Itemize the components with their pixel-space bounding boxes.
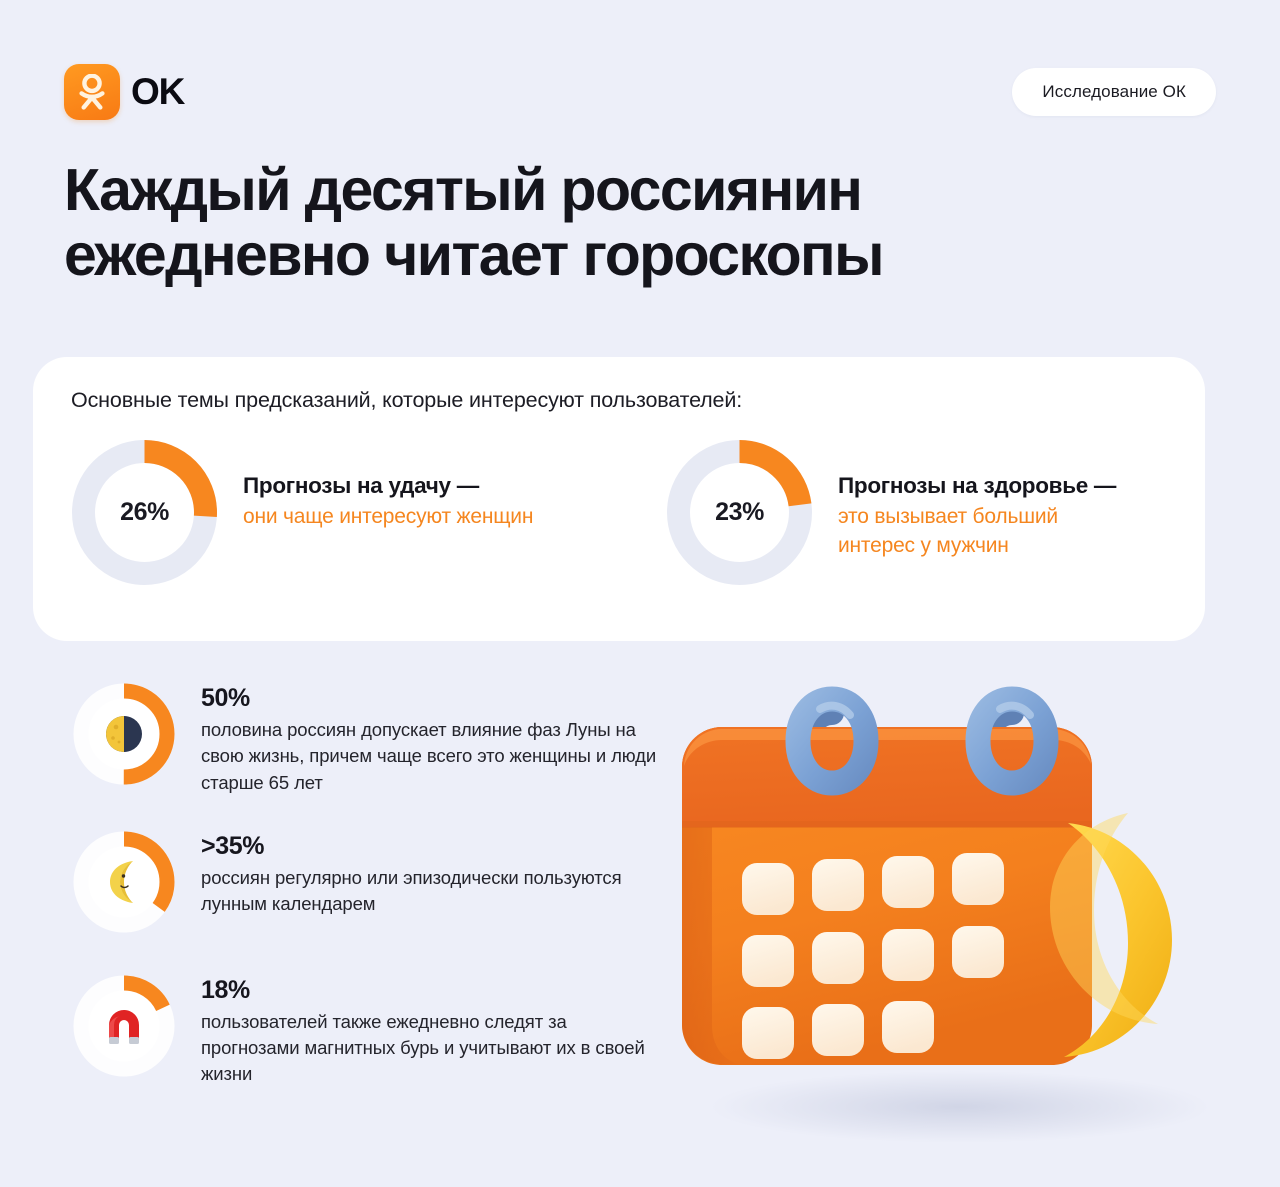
fact-text-18: 18% пользователей также ежедневно следят… xyxy=(201,968,666,1088)
crescent-moon-face-icon xyxy=(66,824,182,940)
fact-text-35: >35% россиян регулярно или эпизодически … xyxy=(201,824,666,918)
stat-detail-luck: они чаще интересуют женщин xyxy=(243,503,533,532)
donut-value-26: 26% xyxy=(71,439,218,586)
fact-number-18: 18% xyxy=(201,976,666,1005)
infographic-page: OK Исследование ОК Каждый десятый россия… xyxy=(0,0,1280,1187)
magnet-icon xyxy=(66,968,182,1084)
donut-chart-23: 23% xyxy=(666,439,813,586)
fact-number-35: >35% xyxy=(201,832,666,861)
stat-text-health: Прогнозы на здоровье — это вызывает боль… xyxy=(838,439,1138,561)
stat-item-health: 23% Прогнозы на здоровье — это вызывает … xyxy=(666,439,1177,586)
fact-description-35: россиян регулярно или эпизодически польз… xyxy=(201,865,666,918)
stat-item-luck: 26% Прогнозы на удачу — они чаще интерес… xyxy=(71,439,582,586)
page-title: Каждый десятый россиянин ежедневно читае… xyxy=(64,158,1184,288)
first-quarter-moon-icon xyxy=(66,676,182,792)
donut-value-23: 23% xyxy=(666,439,813,586)
fact-number-50: 50% xyxy=(201,684,666,713)
page-header: OK Исследование ОК xyxy=(64,62,1216,122)
list-item: 50% половина россиян допускает влияние ф… xyxy=(66,676,666,796)
topics-card: Основные темы предсказаний, которые инте… xyxy=(33,357,1205,641)
list-item: >35% россиян регулярно или эпизодически … xyxy=(66,824,666,940)
facts-list: 50% половина россиян допускает влияние ф… xyxy=(66,676,666,1088)
calendar-moon-illustration xyxy=(660,655,1240,1155)
list-item: 18% пользователей также ежедневно следят… xyxy=(66,968,666,1088)
fact-description-18: пользователей также ежедневно следят за … xyxy=(201,1009,666,1088)
stat-text-luck: Прогнозы на удачу — они чаще интересуют … xyxy=(243,439,533,532)
topics-card-heading: Основные темы предсказаний, которые инте… xyxy=(71,388,742,413)
page-title-line-2: ежедневно читает гороскопы xyxy=(64,223,1184,288)
progress-ring-35 xyxy=(66,824,182,940)
topics-stats-row: 26% Прогнозы на удачу — они чаще интерес… xyxy=(71,439,1177,586)
progress-ring-18 xyxy=(66,968,182,1084)
donut-chart-26: 26% xyxy=(71,439,218,586)
brand-logo: OK xyxy=(64,64,184,120)
page-title-line-1: Каждый десятый россиянин xyxy=(64,158,1184,223)
fact-description-50: половина россиян допускает влияние фаз Л… xyxy=(201,717,666,796)
fact-text-50: 50% половина россиян допускает влияние ф… xyxy=(201,676,666,796)
stat-headline-luck: Прогнозы на удачу — xyxy=(243,471,533,501)
progress-ring-50 xyxy=(66,676,182,792)
stat-detail-health: это вызывает больший интерес у мужчин xyxy=(838,503,1138,561)
study-badge[interactable]: Исследование ОК xyxy=(1012,68,1216,116)
stat-headline-health: Прогнозы на здоровье — xyxy=(838,471,1138,501)
brand-name: OK xyxy=(131,71,184,113)
ok-logo-icon xyxy=(64,64,120,120)
